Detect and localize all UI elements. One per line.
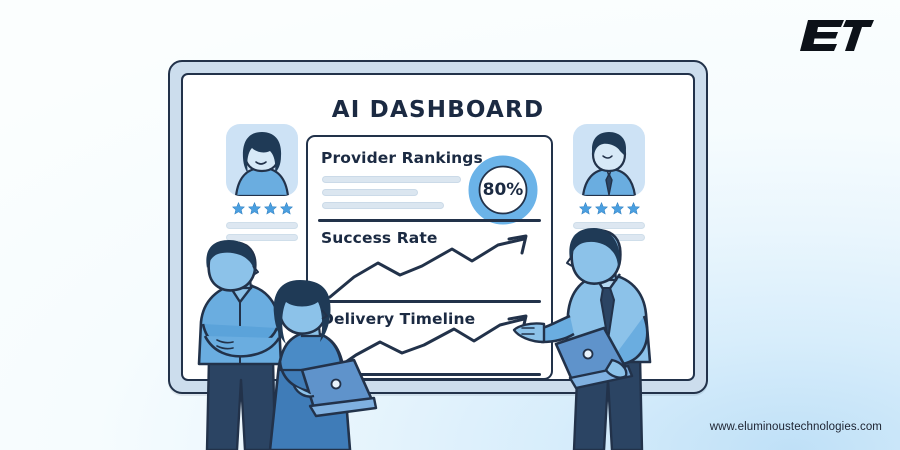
row-label-provider-rankings: Provider Rankings	[321, 149, 483, 167]
completion-gauge: 80%	[468, 155, 538, 225]
website-url: www.eluminoustechnologies.com	[710, 421, 882, 433]
ranking-bar	[322, 202, 444, 209]
avatar	[226, 124, 298, 196]
person-with-laptop	[258, 278, 376, 450]
star-icon	[280, 202, 293, 215]
star-icon	[264, 202, 277, 215]
male-avatar-icon	[573, 124, 645, 196]
star-icon	[248, 202, 261, 215]
female-avatar-icon	[226, 124, 298, 196]
page-title: AI DASHBOARD	[183, 97, 693, 123]
star-icon	[232, 202, 245, 215]
panel-divider	[318, 219, 541, 222]
detail-bar	[226, 222, 298, 229]
ranking-bar	[322, 176, 461, 183]
person-presenting	[540, 228, 670, 450]
star-icon	[579, 202, 592, 215]
profile-detail-bars	[226, 222, 298, 241]
avatar	[573, 124, 645, 196]
et-logo-icon	[798, 14, 876, 60]
rating-stars	[226, 202, 298, 215]
et-logo	[798, 14, 876, 60]
star-icon	[627, 202, 640, 215]
gauge-value: 80%	[468, 155, 538, 225]
person-presenting-icon	[540, 228, 670, 450]
profile-card-left[interactable]	[226, 124, 298, 246]
star-icon	[595, 202, 608, 215]
person-with-laptop-icon	[258, 278, 376, 450]
star-icon	[611, 202, 624, 215]
ranking-bar	[322, 189, 418, 196]
rating-stars	[573, 202, 645, 215]
